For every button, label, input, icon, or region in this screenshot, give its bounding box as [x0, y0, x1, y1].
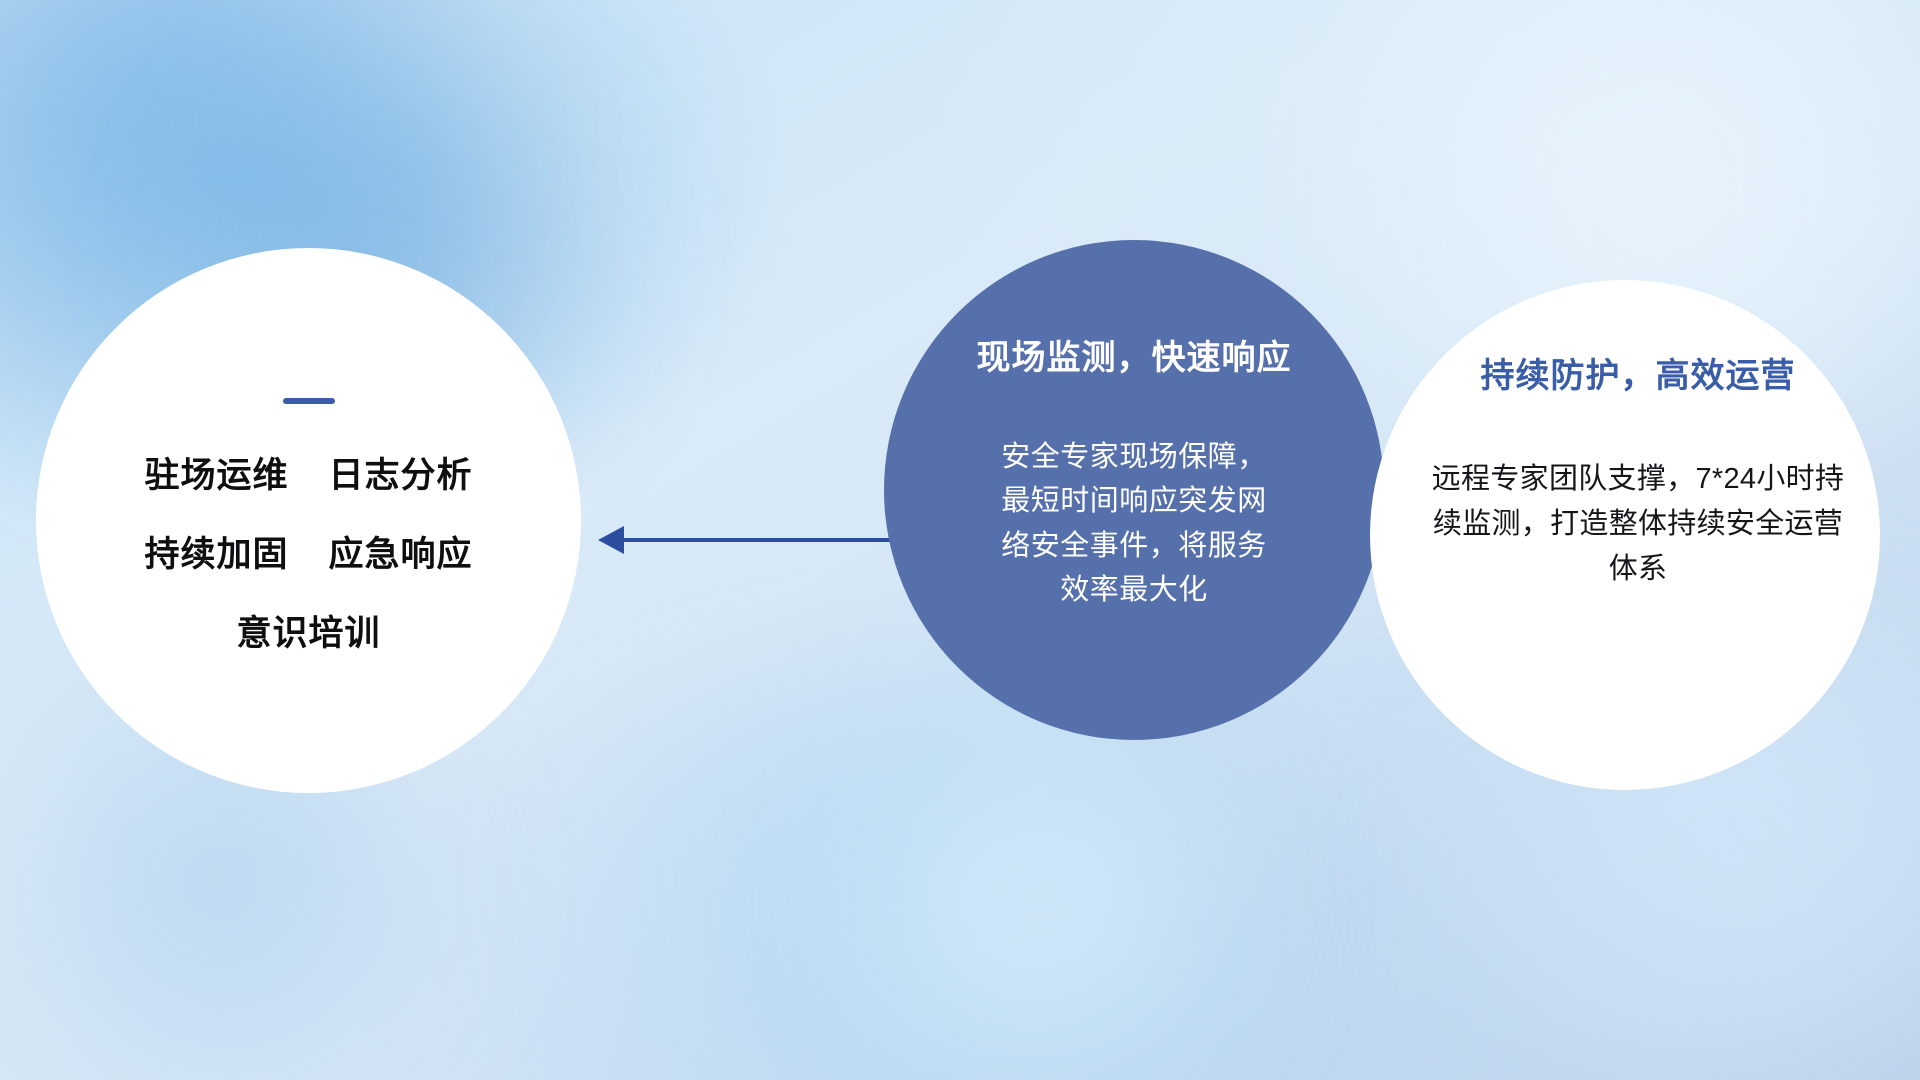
tag-row: 驻场运维 日志分析 — [144, 458, 472, 493]
left-circle-content: 驻场运维 日志分析 持续加固 应急响应 意识培训 — [36, 248, 581, 793]
background-blob — [480, 700, 1380, 1080]
capability-circle-right: 持续防护，高效运营 远程专家团队支撑，7*24小时持续监测，打造整体持续安全运营… — [1370, 280, 1880, 790]
arrow-left-icon — [594, 516, 894, 564]
tag-row: 意识培训 — [236, 616, 380, 651]
capability-circle-left: 驻场运维 日志分析 持续加固 应急响应 意识培训 — [36, 248, 581, 793]
right-circle-content: 持续防护，高效运营 远程专家团队支撑，7*24小时持续监测，打造整体持续安全运营… — [1370, 280, 1880, 790]
tag-label: 应急响应 — [329, 537, 473, 572]
right-circle-body: 远程专家团队支撑，7*24小时持续监测，打造整体持续安全运营体系 — [1428, 457, 1848, 592]
middle-circle-title: 现场监测，快速响应 — [977, 340, 1292, 377]
tag-label: 驻场运维 — [144, 458, 288, 493]
background-blob — [760, 760, 1320, 1080]
tag-label: 持续加固 — [144, 537, 288, 572]
tag-label: 日志分析 — [329, 458, 473, 493]
tag-row: 持续加固 应急响应 — [144, 537, 472, 572]
right-circle-title: 持续防护，高效运营 — [1481, 358, 1796, 395]
tag-label: 意识培训 — [236, 616, 380, 651]
middle-circle-content: 现场监测，快速响应 安全专家现场保障，最短时间响应突发网络安全事件，将服务效率最… — [884, 240, 1384, 740]
middle-circle-body: 安全专家现场保障，最短时间响应突发网络安全事件，将服务效率最大化 — [989, 435, 1279, 611]
capability-circle-middle: 现场监测，快速响应 安全专家现场保障，最短时间响应突发网络安全事件，将服务效率最… — [884, 240, 1384, 740]
divider-dash — [283, 398, 335, 404]
slide-canvas: 驻场运维 日志分析 持续加固 应急响应 意识培训 现场监测，快速响应 安全专家现… — [0, 0, 1920, 1080]
